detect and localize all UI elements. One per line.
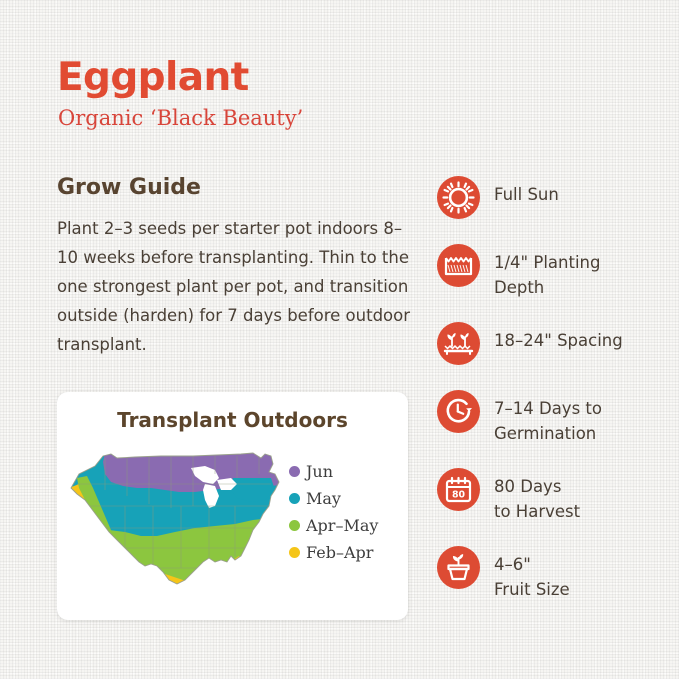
legend-label-jun: Jun (306, 464, 333, 480)
sun-icon (437, 176, 480, 219)
spec-row-spacing: 18–24" Spacing (437, 322, 669, 368)
spec-line-1: 80 Days (494, 477, 561, 496)
spec-line-2: Depth (494, 275, 600, 300)
spec-label-full-sun: Full Sun (494, 176, 559, 207)
spec-row-fruit-size: 4–6" Fruit Size (437, 546, 669, 602)
spec-line-1: 18–24" Spacing (494, 331, 623, 350)
spec-label-fruit-size: 4–6" Fruit Size (494, 546, 570, 602)
fruit-size-pot-icon (437, 546, 480, 589)
grow-guide-body: Plant 2–3 seeds per starter pot indoors … (57, 214, 417, 359)
spacing-icon (437, 322, 480, 365)
legend-item-apr-may: Apr–May (289, 512, 378, 539)
legend-label-apr-may: Apr–May (306, 518, 378, 534)
legend-dot-may (289, 493, 300, 504)
grow-guide-heading: Grow Guide (57, 177, 201, 199)
map-card-title: Transplant Outdoors (57, 410, 408, 430)
spec-label-harvest: 80 Days to Harvest (494, 468, 580, 524)
spec-line-2: Fruit Size (494, 577, 570, 602)
map-zone-layers (65, 444, 290, 604)
page-title: Eggplant (57, 58, 249, 97)
spec-line-1: 7–14 Days to (494, 399, 602, 418)
spec-label-spacing: 18–24" Spacing (494, 322, 623, 353)
growing-specs-list: Full Sun (437, 176, 669, 624)
germination-clock-icon (437, 390, 480, 433)
legend-label-may: May (306, 491, 341, 507)
seed-packet-page: Eggplant Organic ‘Black Beauty’ Grow Gui… (0, 0, 679, 679)
legend-item-feb-apr: Feb–Apr (289, 539, 378, 566)
spec-row-full-sun: Full Sun (437, 176, 669, 222)
legend-label-feb-apr: Feb–Apr (306, 545, 373, 561)
spec-line-1: Full Sun (494, 185, 559, 204)
spec-row-germination: 7–14 Days to Germination (437, 390, 669, 446)
legend-item-may: May (289, 485, 378, 512)
spec-line-1: 1/4" Planting (494, 253, 600, 272)
transplant-outdoors-card: Transplant Outdoors (57, 392, 408, 620)
legend-dot-feb-apr (289, 547, 300, 558)
usa-zone-map (65, 444, 290, 604)
spec-row-planting-depth: 1/4" Planting Depth (437, 244, 669, 300)
planting-depth-icon (437, 244, 480, 287)
spec-label-planting-depth: 1/4" Planting Depth (494, 244, 600, 300)
map-legend: Jun May Apr–May Feb–Apr (289, 458, 378, 566)
spec-line-2: to Harvest (494, 499, 580, 524)
page-subtitle: Organic ‘Black Beauty’ (58, 108, 303, 129)
spec-label-germination: 7–14 Days to Germination (494, 390, 602, 446)
spec-line-2: Germination (494, 421, 602, 446)
spec-row-harvest: 80 80 Days to Harvest (437, 468, 669, 524)
calendar-day-count: 80 (452, 490, 466, 501)
spec-line-1: 4–6" (494, 555, 531, 574)
legend-dot-jun (289, 466, 300, 477)
calendar-icon: 80 (437, 468, 480, 511)
legend-item-jun: Jun (289, 458, 378, 485)
legend-dot-apr-may (289, 520, 300, 531)
